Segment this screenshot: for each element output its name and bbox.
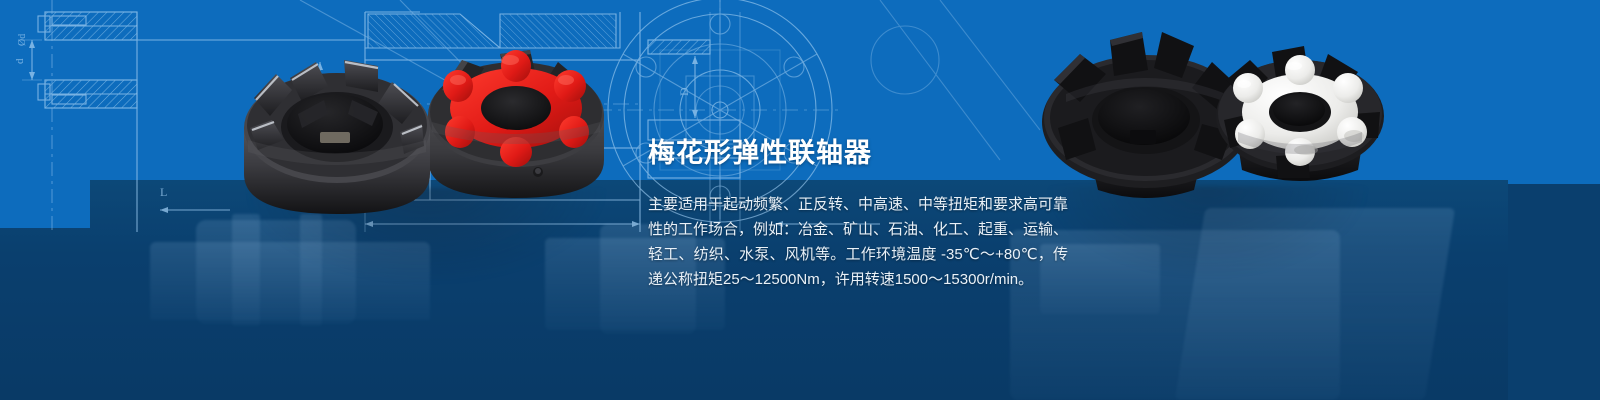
- text-block: 梅花形弹性联轴器 主要适用于起动频繁、正反转、中高速、中等扭矩和要求高可靠性的工…: [648, 136, 1068, 292]
- page-title: 梅花形弹性联轴器: [648, 136, 1068, 170]
- jaw-coupling-with-red-spider: [418, 20, 614, 210]
- product-banner: d Ød: [0, 0, 1600, 400]
- background-step-right-dark: [1508, 184, 1600, 400]
- jaw-coupling-with-white-spider: [1212, 28, 1388, 200]
- description-text: 主要适用于起动频繁、正反转、中高速、中等扭矩和要求高可靠性的工作场合，例如：冶金…: [648, 192, 1068, 292]
- background-step-left: [0, 0, 90, 228]
- background-step-right: [1508, 0, 1600, 184]
- jaw-coupling-hub-black: [232, 28, 442, 226]
- product-description: 主要适用于起动频繁、正反转、中高速、中等扭矩和要求高可靠性的工作场合，例如：冶金…: [648, 192, 1068, 292]
- svg-text:D: D: [677, 87, 691, 96]
